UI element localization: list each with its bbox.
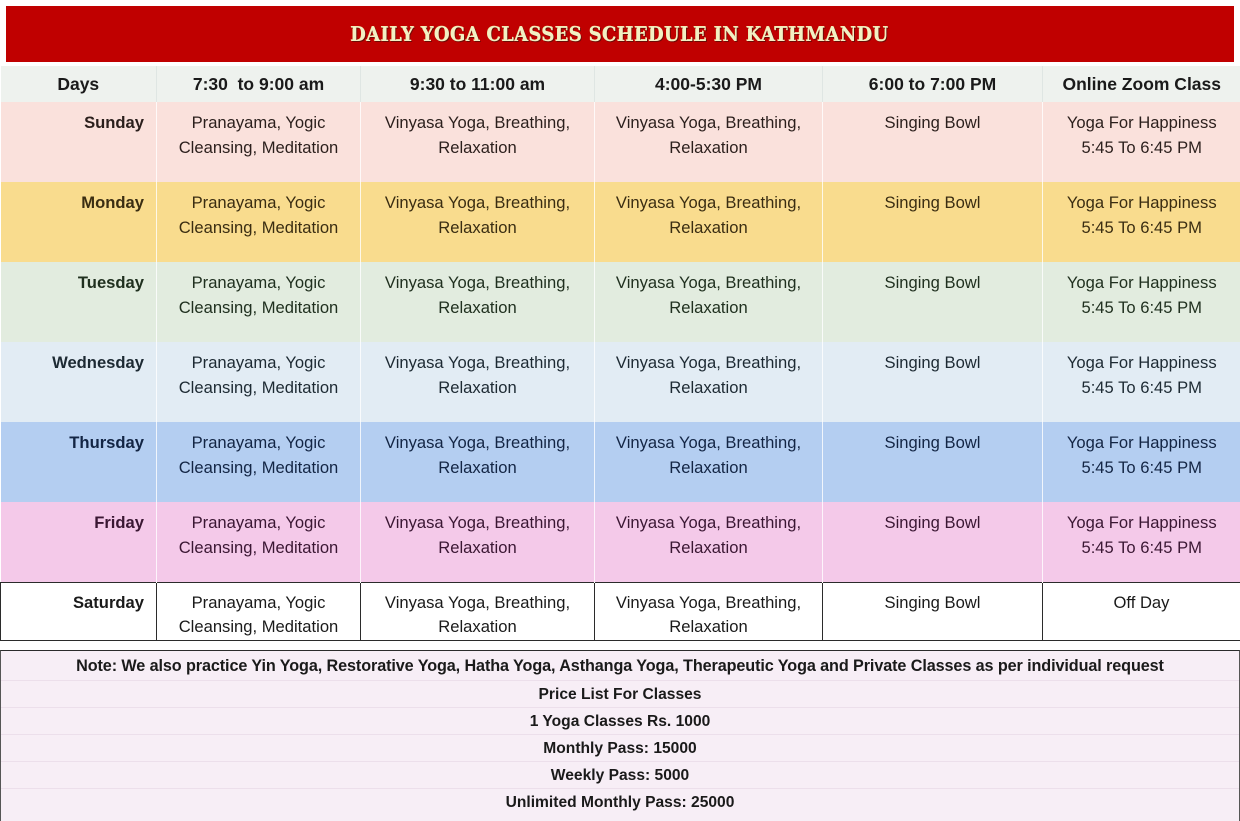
cell-line: Cleansing, Meditation [179, 378, 339, 397]
cell-line: Pranayama, Yogic [192, 593, 326, 612]
cell-line: Cleansing, Meditation [179, 617, 339, 636]
cell-line: Vinyasa Yoga, Breathing, [616, 593, 801, 612]
cell-line: Pranayama, Yogic [192, 193, 326, 212]
class-cell-slot-4: Singing Bowl [823, 502, 1043, 582]
cell-line: Relaxation [669, 538, 747, 557]
schedule-table: Days 7:30 to 9:00 am 9:30 to 11:00 am 4:… [0, 66, 1240, 641]
price-item-monthly: Monthly Pass: 15000 [1, 735, 1239, 762]
cell-line: 5:45 To 6:45 PM [1081, 378, 1202, 397]
footer-note: Note: We also practice Yin Yoga, Restora… [1, 651, 1239, 681]
cell-line: Cleansing, Meditation [179, 298, 339, 317]
class-cell-slot-2: Vinyasa Yoga, Breathing, Relaxation [361, 182, 595, 262]
cell-line: Vinyasa Yoga, Breathing, [616, 193, 801, 212]
cell-line: Vinyasa Yoga, Breathing, [385, 273, 570, 292]
class-cell-slot-1: Pranayama, Yogic Cleansing, Meditation [157, 342, 361, 422]
cell-line: Relaxation [438, 218, 516, 237]
class-cell-online-zoom: Yoga For Happiness 5:45 To 6:45 PM [1043, 422, 1240, 502]
table-row: Sunday Pranayama, Yogic Cleansing, Medit… [1, 102, 1240, 182]
cell-line: Vinyasa Yoga, Breathing, [385, 193, 570, 212]
class-cell-slot-2: Vinyasa Yoga, Breathing, Relaxation [361, 342, 595, 422]
price-item-unlimited: Unlimited Monthly Pass: 25000 [1, 789, 1239, 816]
yoga-schedule-page: DAILY YOGA CLASSES SCHEDULE IN KATHMANDU… [0, 0, 1240, 821]
cell-line: Relaxation [438, 378, 516, 397]
class-cell-slot-2: Vinyasa Yoga, Breathing, Relaxation [361, 102, 595, 182]
cell-line: Relaxation [438, 298, 516, 317]
class-cell-online-zoom: Yoga For Happiness 5:45 To 6:45 PM [1043, 262, 1240, 342]
class-cell-slot-3: Vinyasa Yoga, Breathing, Relaxation [595, 262, 823, 342]
class-cell-online-zoom: Yoga For Happiness 5:45 To 6:45 PM [1043, 102, 1240, 182]
table-row: Monday Pranayama, Yogic Cleansing, Medit… [1, 182, 1240, 262]
cell-line: Vinyasa Yoga, Breathing, [616, 433, 801, 452]
column-header-slot-2: 9:30 to 11:00 am [361, 66, 595, 102]
class-cell-slot-4: Singing Bowl [823, 262, 1043, 342]
cell-line: Yoga For Happiness [1067, 513, 1217, 532]
class-cell-slot-4: Singing Bowl [823, 102, 1043, 182]
cell-line: Relaxation [669, 378, 747, 397]
class-cell-slot-4: Singing Bowl [823, 582, 1043, 640]
table-header-row: Days 7:30 to 9:00 am 9:30 to 11:00 am 4:… [1, 66, 1240, 102]
cell-line: Vinyasa Yoga, Breathing, [616, 273, 801, 292]
class-cell-slot-2: Vinyasa Yoga, Breathing, Relaxation [361, 422, 595, 502]
column-header-days: Days [1, 66, 157, 102]
class-cell-slot-1: Pranayama, Yogic Cleansing, Meditation [157, 502, 361, 582]
table-row: Tuesday Pranayama, Yogic Cleansing, Medi… [1, 262, 1240, 342]
day-label: Wednesday [1, 342, 157, 422]
cell-line: Pranayama, Yogic [192, 113, 326, 132]
class-cell-slot-3: Vinyasa Yoga, Breathing, Relaxation [595, 102, 823, 182]
cell-line: Yoga For Happiness [1067, 433, 1217, 452]
class-cell-slot-1: Pranayama, Yogic Cleansing, Meditation [157, 422, 361, 502]
cell-line: Relaxation [669, 218, 747, 237]
cell-line: Relaxation [669, 298, 747, 317]
cell-line: Yoga For Happiness [1067, 113, 1217, 132]
cell-line: Relaxation [438, 617, 516, 636]
cell-line: Yoga For Happiness [1067, 193, 1217, 212]
day-label: Thursday [1, 422, 157, 502]
price-list-heading: Price List For Classes [1, 681, 1239, 708]
cell-line: 5:45 To 6:45 PM [1081, 218, 1202, 237]
cell-line: 5:45 To 6:45 PM [1081, 138, 1202, 157]
class-cell-slot-2: Vinyasa Yoga, Breathing, Relaxation [361, 262, 595, 342]
cell-line: Relaxation [669, 458, 747, 477]
table-row: Thursday Pranayama, Yogic Cleansing, Med… [1, 422, 1240, 502]
cell-line: Yoga For Happiness [1067, 273, 1217, 292]
cell-line: Relaxation [438, 138, 516, 157]
class-cell-slot-1: Pranayama, Yogic Cleansing, Meditation [157, 102, 361, 182]
cell-line: Pranayama, Yogic [192, 433, 326, 452]
cell-line: Vinyasa Yoga, Breathing, [385, 113, 570, 132]
class-cell-slot-3: Vinyasa Yoga, Breathing, Relaxation [595, 182, 823, 262]
cell-line: Relaxation [669, 138, 747, 157]
cell-line: Relaxation [438, 458, 516, 477]
table-row: Friday Pranayama, Yogic Cleansing, Medit… [1, 502, 1240, 582]
cell-line: Cleansing, Meditation [179, 538, 339, 557]
cell-line: Vinyasa Yoga, Breathing, [385, 593, 570, 612]
day-label: Saturday [1, 582, 157, 640]
cell-line: Pranayama, Yogic [192, 353, 326, 372]
class-cell-slot-1: Pranayama, Yogic Cleansing, Meditation [157, 262, 361, 342]
cell-line: Cleansing, Meditation [179, 218, 339, 237]
cell-line: 5:45 To 6:45 PM [1081, 538, 1202, 557]
table-row: Saturday Pranayama, Yogic Cleansing, Med… [1, 582, 1240, 640]
class-cell-slot-4: Singing Bowl [823, 422, 1043, 502]
cell-line: Cleansing, Meditation [179, 138, 339, 157]
cell-line: Vinyasa Yoga, Breathing, [616, 113, 801, 132]
class-cell-slot-3: Vinyasa Yoga, Breathing, Relaxation [595, 582, 823, 640]
cell-line: Relaxation [669, 617, 747, 636]
cell-line: Cleansing, Meditation [179, 458, 339, 477]
cell-line: Pranayama, Yogic [192, 513, 326, 532]
class-cell-online-zoom: Yoga For Happiness 5:45 To 6:45 PM [1043, 502, 1240, 582]
cell-line: Vinyasa Yoga, Breathing, [385, 353, 570, 372]
class-cell-slot-4: Singing Bowl [823, 342, 1043, 422]
day-label: Friday [1, 502, 157, 582]
class-cell-slot-3: Vinyasa Yoga, Breathing, Relaxation [595, 342, 823, 422]
class-cell-slot-2: Vinyasa Yoga, Breathing, Relaxation [361, 502, 595, 582]
class-cell-slot-4: Singing Bowl [823, 182, 1043, 262]
price-item-single: 1 Yoga Classes Rs. 1000 [1, 708, 1239, 735]
class-cell-online-zoom: Yoga For Happiness 5:45 To 6:45 PM [1043, 182, 1240, 262]
cell-line: Vinyasa Yoga, Breathing, [616, 353, 801, 372]
class-cell-online-zoom: Off Day [1043, 582, 1240, 640]
class-cell-online-zoom: Yoga For Happiness 5:45 To 6:45 PM [1043, 342, 1240, 422]
class-cell-slot-1: Pranayama, Yogic Cleansing, Meditation [157, 182, 361, 262]
cell-line: Relaxation [438, 538, 516, 557]
cell-line: Yoga For Happiness [1067, 353, 1217, 372]
price-item-weekly: Weekly Pass: 5000 [1, 762, 1239, 789]
column-header-online-zoom: Online Zoom Class [1043, 66, 1240, 102]
day-label: Monday [1, 182, 157, 262]
cell-line: Vinyasa Yoga, Breathing, [385, 513, 570, 532]
cell-line: 5:45 To 6:45 PM [1081, 458, 1202, 477]
day-label: Tuesday [1, 262, 157, 342]
column-header-slot-3: 4:00-5:30 PM [595, 66, 823, 102]
class-cell-slot-3: Vinyasa Yoga, Breathing, Relaxation [595, 422, 823, 502]
table-row: Wednesday Pranayama, Yogic Cleansing, Me… [1, 342, 1240, 422]
class-cell-slot-2: Vinyasa Yoga, Breathing, Relaxation [361, 582, 595, 640]
class-cell-slot-1: Pranayama, Yogic Cleansing, Meditation [157, 582, 361, 640]
column-header-slot-4: 6:00 to 7:00 PM [823, 66, 1043, 102]
page-banner: DAILY YOGA CLASSES SCHEDULE IN KATHMANDU [6, 6, 1234, 62]
cell-line: Vinyasa Yoga, Breathing, [616, 513, 801, 532]
column-header-slot-1: 7:30 to 9:00 am [157, 66, 361, 102]
class-cell-slot-3: Vinyasa Yoga, Breathing, Relaxation [595, 502, 823, 582]
cell-line: Pranayama, Yogic [192, 273, 326, 292]
cell-line: 5:45 To 6:45 PM [1081, 298, 1202, 317]
page-title: DAILY YOGA CLASSES SCHEDULE IN KATHMANDU [351, 23, 889, 46]
cell-line: Vinyasa Yoga, Breathing, [385, 433, 570, 452]
day-label: Sunday [1, 102, 157, 182]
footer-note-block: Note: We also practice Yin Yoga, Restora… [0, 650, 1240, 821]
